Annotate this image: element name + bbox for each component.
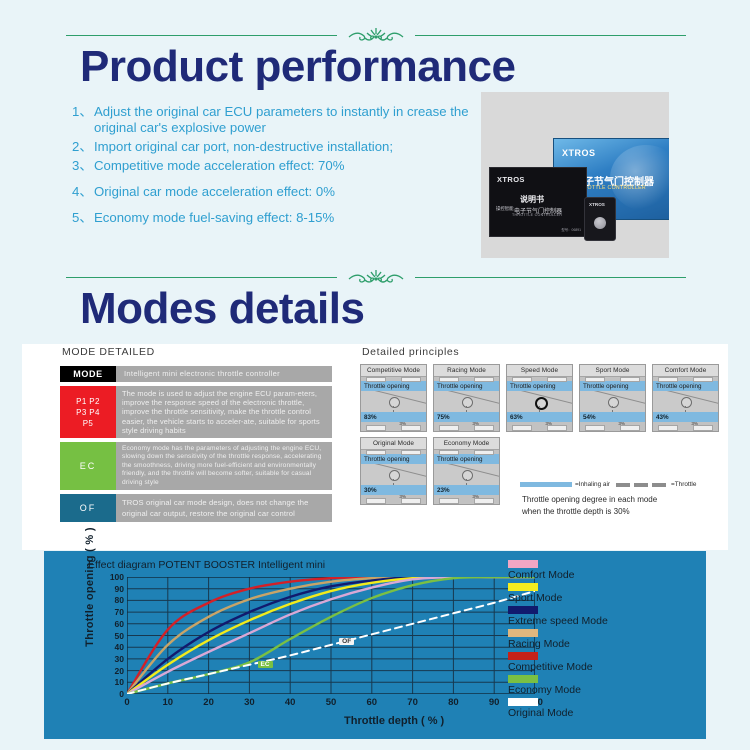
card-percent: 23% <box>434 485 499 495</box>
card-notch <box>653 377 718 381</box>
card-notch <box>434 450 499 454</box>
card-diagram <box>434 464 499 485</box>
chart-x-tick: 80 <box>448 697 459 708</box>
manual-brand-label: XTROS <box>497 175 525 184</box>
card-depth-label: 3% <box>618 421 625 426</box>
card-diagram <box>361 391 426 412</box>
list-item: 4、 Original car mode acceleration effect… <box>72 184 472 200</box>
bullet-text: Competitive mode acceleration effect: 70… <box>94 158 472 174</box>
card-footer: 3% <box>434 495 499 504</box>
performance-bullet-list: 1、 Adjust the original car ECU parameter… <box>72 104 472 229</box>
throttle-dash-swatch <box>616 483 668 487</box>
list-item: 5、 Economy mode fuel-saving effect: 8-15… <box>72 210 472 226</box>
legend-swatch <box>508 698 538 706</box>
card-footer: 3% <box>507 422 572 431</box>
legend-swatch <box>508 629 538 637</box>
chart-y-tick: 20 <box>115 666 124 676</box>
product-photo: XTROS 真卡 电子节气门控制器 THROTTLE CONTROLLER XT… <box>481 92 669 258</box>
card-footer: 3% <box>361 422 426 431</box>
table-row: P1 P2 P3 P4 P5 The mode is used to adjus… <box>60 386 332 438</box>
effect-diagram-chart: Effect diagram POTENT BOOSTER Intelligen… <box>44 551 706 739</box>
legend-label: Comfort Mode <box>508 569 698 582</box>
legend-item: Competitive Mode <box>508 652 698 674</box>
card-diagram <box>580 391 645 412</box>
mode-desc-cell: The mode is used to adjust the engine EC… <box>116 386 332 438</box>
chart-y-tick: 0 <box>119 689 124 699</box>
card-valve-icon <box>462 470 473 481</box>
chart-x-tick: 70 <box>407 697 418 708</box>
mode-desc-cell: TROS original car mode design, does not … <box>116 494 332 522</box>
mode-principle-card: Economy ModeThrottle opening23%3% <box>433 437 500 505</box>
mode-principle-card: Competitive ModeThrottle opening83%3% <box>360 364 427 432</box>
card-depth-label: 3% <box>399 421 406 426</box>
caption-line-1: Throttle opening degree in each mode <box>522 494 657 506</box>
bullet-text: Economy mode fuel-saving effect: 8-15% <box>94 210 472 226</box>
inhaling-air-swatch <box>520 482 572 487</box>
card-diagram <box>434 391 499 412</box>
divider-rule-left <box>66 35 337 36</box>
card-notch <box>434 377 499 381</box>
chart-y-tick: 80 <box>115 595 124 605</box>
chart-x-tick: 30 <box>244 697 255 708</box>
chart-curves <box>127 577 535 694</box>
divider-rule-right <box>415 35 686 36</box>
manual-code-label: 型号：06891 <box>561 227 581 232</box>
card-throttle-opening-label: Throttle opening <box>580 381 645 391</box>
card-depth-label: 3% <box>399 494 406 499</box>
table-row: EC Economy mode has the parameters of ad… <box>60 442 332 490</box>
chart-x-tick: 50 <box>326 697 337 708</box>
chart-x-tick: 90 <box>489 697 500 708</box>
card-stem-line <box>685 406 686 412</box>
card-title: Comfort Mode <box>653 365 718 377</box>
bullet-number: 3、 <box>72 158 94 174</box>
mode-detailed-label: MODE DETAILED <box>62 346 155 358</box>
card-footer: 3% <box>361 495 426 504</box>
legend-item: Sport Mode <box>508 583 698 605</box>
card-stem-line <box>466 479 467 485</box>
mode-principle-card: Original ModeThrottle opening30%3% <box>360 437 427 505</box>
principles-caption: Throttle opening degree in each mode whe… <box>522 494 657 518</box>
chart-x-tick: 20 <box>203 697 214 708</box>
card-percent: 63% <box>507 412 572 422</box>
bullet-text: Import original car port, non-destructiv… <box>94 139 472 155</box>
mode-principle-card: Comfort ModeThrottle opening43%3% <box>652 364 719 432</box>
caption-line-2: when the throttle depth is 30% <box>522 506 657 518</box>
card-valve-icon <box>389 470 400 481</box>
bullet-text: Original car mode acceleration effect: 0… <box>94 184 472 200</box>
card-depth-label: 3% <box>691 421 698 426</box>
legend-swatch <box>508 606 538 614</box>
chart-x-axis-label: Throttle depth ( % ) <box>344 715 444 727</box>
mode-key-cell: MODE <box>60 366 116 382</box>
card-footer: 3% <box>653 422 718 431</box>
list-item: 2、 Import original car port, non-destruc… <box>72 139 472 155</box>
card-title: Racing Mode <box>434 365 499 377</box>
legend-item: Comfort Mode <box>508 560 698 582</box>
card-footer: 3% <box>580 422 645 431</box>
chart-y-axis-label: Throttle opening ( % ) <box>84 527 96 647</box>
card-title: Sport Mode <box>580 365 645 377</box>
list-item: 1、 Adjust the original car ECU parameter… <box>72 104 472 136</box>
card-stem-line <box>393 406 394 412</box>
chart-annotation-ec: EC <box>258 661 273 668</box>
principle-cards: Competitive ModeThrottle opening83%3%Rac… <box>360 364 720 510</box>
legend-item: Original Mode <box>508 698 698 720</box>
card-depth-label: 3% <box>472 421 479 426</box>
chart-x-tick: 40 <box>285 697 296 708</box>
card-throttle-opening-label: Throttle opening <box>434 454 499 464</box>
card-percent: 30% <box>361 485 426 495</box>
mode-principle-card: Speed ModeThrottle opening63%3% <box>506 364 573 432</box>
card-notch <box>361 450 426 454</box>
legend-swatch <box>508 583 538 591</box>
card-notch <box>580 377 645 381</box>
infographic-page: Product performance 1、 Adjust the origin… <box>0 0 750 750</box>
product-manual-image: XTROS 操控智能 说明书 电子节气门控制器 THROTTLE CONTROL… <box>489 167 587 237</box>
legend-swatch <box>508 652 538 660</box>
card-percent: 43% <box>653 412 718 422</box>
card-title: Competitive Mode <box>361 365 426 377</box>
bullet-text: Adjust the original car ECU parameters t… <box>94 104 472 136</box>
chart-y-tick: 40 <box>115 642 124 652</box>
chart-title: Effect diagram POTENT BOOSTER Intelligen… <box>88 559 325 571</box>
chart-y-tick: 50 <box>115 631 124 641</box>
card-depth-label: 3% <box>472 494 479 499</box>
card-throttle-opening-label: Throttle opening <box>361 381 426 391</box>
list-item: 3、 Competitive mode acceleration effect:… <box>72 158 472 174</box>
page-title-performance: Product performance <box>80 42 515 92</box>
card-percent: 83% <box>361 412 426 422</box>
card-title: Economy Mode <box>434 438 499 450</box>
chart-x-tick: 10 <box>163 697 174 708</box>
card-stem-line <box>393 479 394 485</box>
mode-detailed-table: MODE Intelligent mini electronic throttl… <box>60 366 332 526</box>
chart-plot-area: OF EC 0102030405060708090100010203040506… <box>127 577 535 694</box>
card-stem-line <box>466 406 467 412</box>
principles-key-legend: =Inhaling air =Throttle <box>520 481 696 488</box>
mode-principle-card: Sport ModeThrottle opening54%3% <box>579 364 646 432</box>
card-throttle-opening-label: Throttle opening <box>653 381 718 391</box>
card-throttle-opening-label: Throttle opening <box>361 454 426 464</box>
card-valve-icon <box>389 397 400 408</box>
card-percent: 54% <box>580 412 645 422</box>
chart-y-tick: 30 <box>115 654 124 664</box>
chart-x-tick: 0 <box>124 697 129 708</box>
bullet-number: 4、 <box>72 184 94 200</box>
table-row: MODE Intelligent mini electronic throttl… <box>60 366 332 382</box>
chart-x-tick: 60 <box>367 697 378 708</box>
legend-swatch <box>508 675 538 683</box>
legend-item: Extreme speed Mode <box>508 606 698 628</box>
card-depth-label: 3% <box>545 421 552 426</box>
card-percent: 75% <box>434 412 499 422</box>
bullet-number: 5、 <box>72 210 94 226</box>
card-valve-icon <box>462 397 473 408</box>
legend-label: Competitive Mode <box>508 661 698 674</box>
card-diagram <box>507 391 572 412</box>
chart-y-tick: 60 <box>115 619 124 629</box>
legend-label: Racing Mode <box>508 638 698 651</box>
detailed-principles-label: Detailed principles <box>362 346 459 358</box>
legend-label: Economy Mode <box>508 684 698 697</box>
card-title: Original Mode <box>361 438 426 450</box>
mode-principle-card: Racing ModeThrottle opening75%3% <box>433 364 500 432</box>
product-device-image: XTROS <box>584 197 616 241</box>
bullet-number: 2、 <box>72 139 94 155</box>
card-valve-icon <box>681 397 692 408</box>
chart-y-tick: 10 <box>115 677 124 687</box>
card-stem-line <box>612 406 613 412</box>
card-valve-icon <box>535 397 548 410</box>
mode-desc-cell: Economy mode has the parameters of adjus… <box>116 442 332 490</box>
card-title: Speed Mode <box>507 365 572 377</box>
manual-left-label: 操控智能 <box>496 206 514 212</box>
bullet-number: 1、 <box>72 104 94 136</box>
page-title-modes: Modes details <box>80 284 364 334</box>
manual-title-cn: 说明书 <box>520 194 544 205</box>
device-button-icon <box>594 217 606 229</box>
inhaling-air-label: =Inhaling air <box>575 481 610 488</box>
card-notch <box>507 377 572 381</box>
principle-cards-row-1: Competitive ModeThrottle opening83%3%Rac… <box>360 364 720 432</box>
divider-rule-left <box>66 277 337 278</box>
card-diagram <box>361 464 426 485</box>
chart-y-tick: 70 <box>115 607 124 617</box>
card-valve-icon <box>608 397 619 408</box>
legend-label: Extreme speed Mode <box>508 615 698 628</box>
box-brand-label: XTROS <box>562 148 596 158</box>
chart-legend: Comfort ModeSport ModeExtreme speed Mode… <box>508 560 698 721</box>
manual-subtitle-en: THROTTLE CONTROLLER <box>512 213 562 217</box>
table-row: OF TROS original car mode design, does n… <box>60 494 332 522</box>
card-footer: 3% <box>434 422 499 431</box>
card-throttle-opening-label: Throttle opening <box>434 381 499 391</box>
device-brand-label: XTROS <box>589 202 605 207</box>
chart-y-tick: 90 <box>115 584 124 594</box>
chart-annotation-of: OF <box>339 638 354 645</box>
legend-label: Original Mode <box>508 707 698 720</box>
mode-key-cell: P1 P2 P3 P4 P5 <box>60 386 116 438</box>
mode-key-cell: OF <box>60 494 116 522</box>
legend-item: Economy Mode <box>508 675 698 697</box>
chart-y-tick: 100 <box>110 572 124 582</box>
mode-key-cell: EC <box>60 442 116 490</box>
divider-rule-right <box>415 277 686 278</box>
legend-item: Racing Mode <box>508 629 698 651</box>
throttle-label: =Throttle <box>671 481 696 488</box>
card-diagram <box>653 391 718 412</box>
card-throttle-opening-label: Throttle opening <box>507 381 572 391</box>
mode-desc-cell: Intelligent mini electronic throttle con… <box>116 366 332 382</box>
card-notch <box>361 377 426 381</box>
card-stem-line <box>539 406 540 412</box>
legend-swatch <box>508 560 538 568</box>
legend-label: Sport Mode <box>508 592 698 605</box>
